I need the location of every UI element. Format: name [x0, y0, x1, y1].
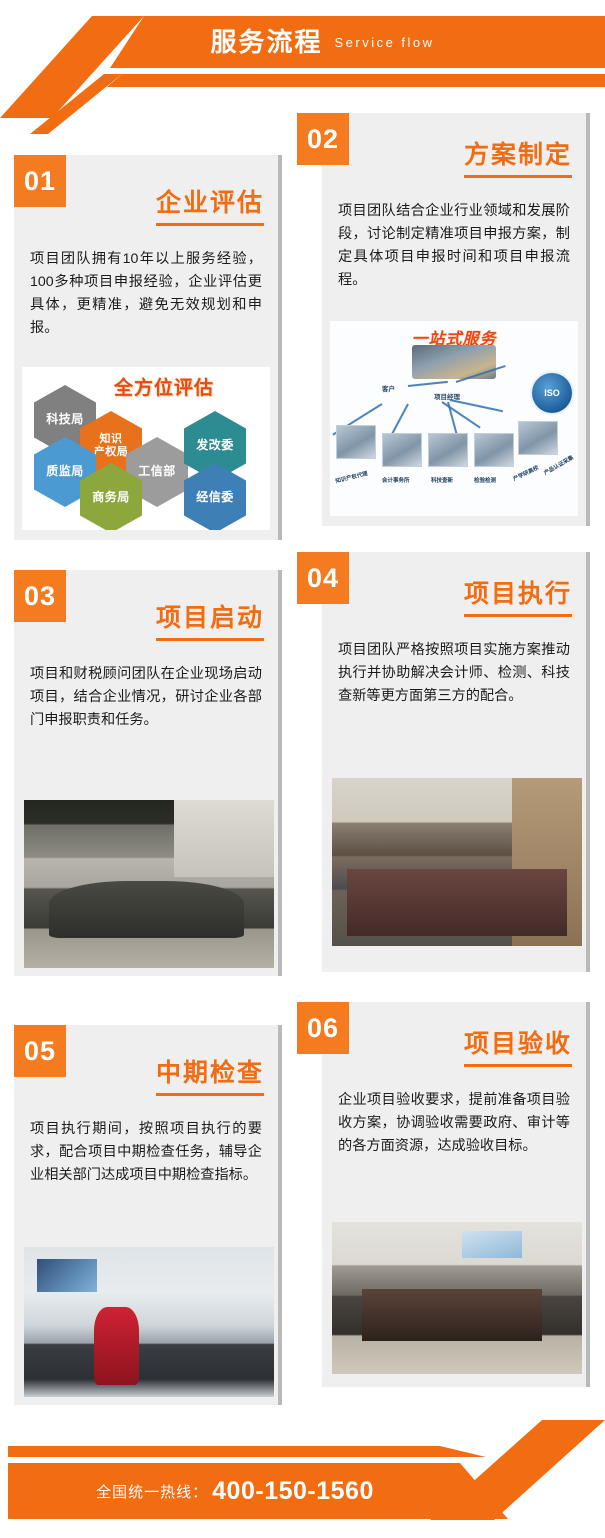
step-card-06: 项目验收 企业项目验收要求，提前准备项目验收方案，协调验收需要政府、审计等的各方… [322, 1002, 590, 1387]
service-flow-infographic: 服务流程 Service flow 企业评估 项目团队拥有10年以上服务经验，1… [0, 0, 605, 1538]
card-05-title: 中期检查 [156, 1061, 264, 1096]
one-stop-label-university: 产学研高校 [512, 463, 540, 482]
card-06-photo-acceptance-meeting [332, 1222, 582, 1374]
card-03-photo-conference-room [24, 800, 274, 968]
card-01-description: 项目团队拥有10年以上服务经验，100多种项目申报经验，企业评估更具体，更精准，… [14, 248, 278, 340]
one-stop-node-4 [474, 433, 514, 467]
hex-node-jingxin-wei: 经信委 [184, 463, 246, 530]
card-05-description: 项目执行期间，按照项目执行的要求，配合项目中期检查任务，辅导企业相关部门达成项目… [14, 1118, 278, 1187]
one-stop-node-3 [428, 433, 468, 467]
page-title: 服务流程 [210, 29, 322, 55]
page-subtitle: Service flow [334, 36, 434, 49]
card-05-number-badge: 05 [14, 1025, 66, 1077]
page-header: 服务流程 Service flow [0, 0, 605, 108]
card-06-description: 企业项目验收要求，提前准备项目验收方案，协调验收需要政府、审计等的各方面资源，达… [322, 1089, 586, 1158]
iso-badge-icon: ISO [532, 373, 572, 413]
card-04-title: 项目执行 [464, 582, 572, 617]
one-stop-label-inspection: 检验检测 [474, 476, 496, 484]
card-04-description: 项目团队严格按照项目实施方案推动执行并协助解决会计师、检测、科技查新等更方面第三… [322, 639, 586, 708]
step-card-05: 中期检查 项目执行期间，按照项目执行的要求，配合项目中期检查任务，辅导企业相关部… [14, 1025, 282, 1405]
card-01-assessment-diagram: 全方位评估 科技局 知识产权局 质监局 工信部 商务局 发改委 经信委 [22, 367, 270, 530]
card-05-photo-showroom-visit [24, 1247, 274, 1397]
card-06-title: 项目验收 [464, 1032, 572, 1067]
one-stop-label-customer: 客户 [382, 383, 395, 393]
one-stop-node-2 [382, 433, 422, 467]
hotline-label: 全国统一热线： [96, 1481, 208, 1502]
step-card-01: 企业评估 项目团队拥有10年以上服务经验，100多种项目申报经验，企业评估更具体… [14, 155, 282, 540]
header-title-group: 服务流程 Service flow [0, 16, 605, 68]
one-stop-arrow-1 [408, 381, 448, 387]
one-stop-label-novelty-search: 科技查新 [431, 476, 453, 484]
card-04-number-badge: 04 [297, 552, 349, 604]
card-01-number-badge: 01 [14, 155, 66, 207]
footer-hotline-group: 全国统一热线： 400-150-1560 [0, 1463, 470, 1519]
one-stop-label-certification: 产品认证采集 [542, 453, 575, 476]
card-03-description: 项目和财税顾问团队在企业现场启动项目，结合企业情况，研讨企业各部门申报职责和任务… [14, 663, 278, 732]
step-card-04: 项目执行 项目团队严格按照项目实施方案推动执行并协助解决会计师、检测、科技查新等… [322, 552, 590, 972]
card-04-photo-meeting-laptops [332, 778, 582, 946]
step-card-03: 项目启动 项目和财税顾问团队在企业现场启动项目，结合企业情况，研讨企业各部门申报… [14, 570, 282, 976]
card-02-description: 项目团队结合企业行业领域和发展阶段，讨论制定精准项目申报方案，制定具体项目申报时… [322, 200, 586, 292]
hotline-number[interactable]: 400-150-1560 [212, 1477, 374, 1506]
hex-diagram-title: 全方位评估 [114, 373, 214, 400]
card-01-body: 企业评估 项目团队拥有10年以上服务经验，100多种项目申报经验，企业评估更具体… [14, 155, 282, 540]
card-03-body: 项目启动 项目和财税顾问团队在企业现场启动项目，结合企业情况，研讨企业各部门申报… [14, 570, 282, 976]
one-stop-node-1 [336, 425, 376, 459]
step-card-02: 方案制定 项目团队结合企业行业领域和发展阶段，讨论制定精准项目申报方案，制定具体… [322, 113, 590, 526]
one-stop-label-accounting: 会计事务所 [382, 476, 410, 484]
card-02-number-badge: 02 [297, 113, 349, 165]
card-03-title: 项目启动 [156, 606, 264, 641]
card-02-title: 方案制定 [464, 143, 572, 178]
card-02-one-stop-service-diagram: 一站式服务 客户 项目经理 ISO 知识产权代理 会计事务所 [330, 321, 578, 516]
card-02-body: 方案制定 项目团队结合企业行业领域和发展阶段，讨论制定精准项目申报方案，制定具体… [322, 113, 590, 526]
page-footer: 全国统一热线： 400-150-1560 [0, 1420, 605, 1538]
card-06-number-badge: 06 [297, 1002, 349, 1054]
card-04-body: 项目执行 项目团队严格按照项目实施方案推动执行并协助解决会计师、检测、科技查新等… [322, 552, 590, 972]
card-06-body: 项目验收 企业项目验收要求，提前准备项目验收方案，协调验收需要政府、审计等的各方… [322, 1002, 590, 1387]
one-stop-node-5 [518, 421, 558, 455]
card-03-number-badge: 03 [14, 570, 66, 622]
card-05-body: 中期检查 项目执行期间，按照项目执行的要求，配合项目中期检查任务，辅导企业相关部… [14, 1025, 282, 1405]
one-stop-arrow-3 [450, 399, 503, 412]
one-stop-label-ip-agency: 知识产权代理 [335, 469, 369, 485]
card-01-title: 企业评估 [156, 191, 264, 226]
